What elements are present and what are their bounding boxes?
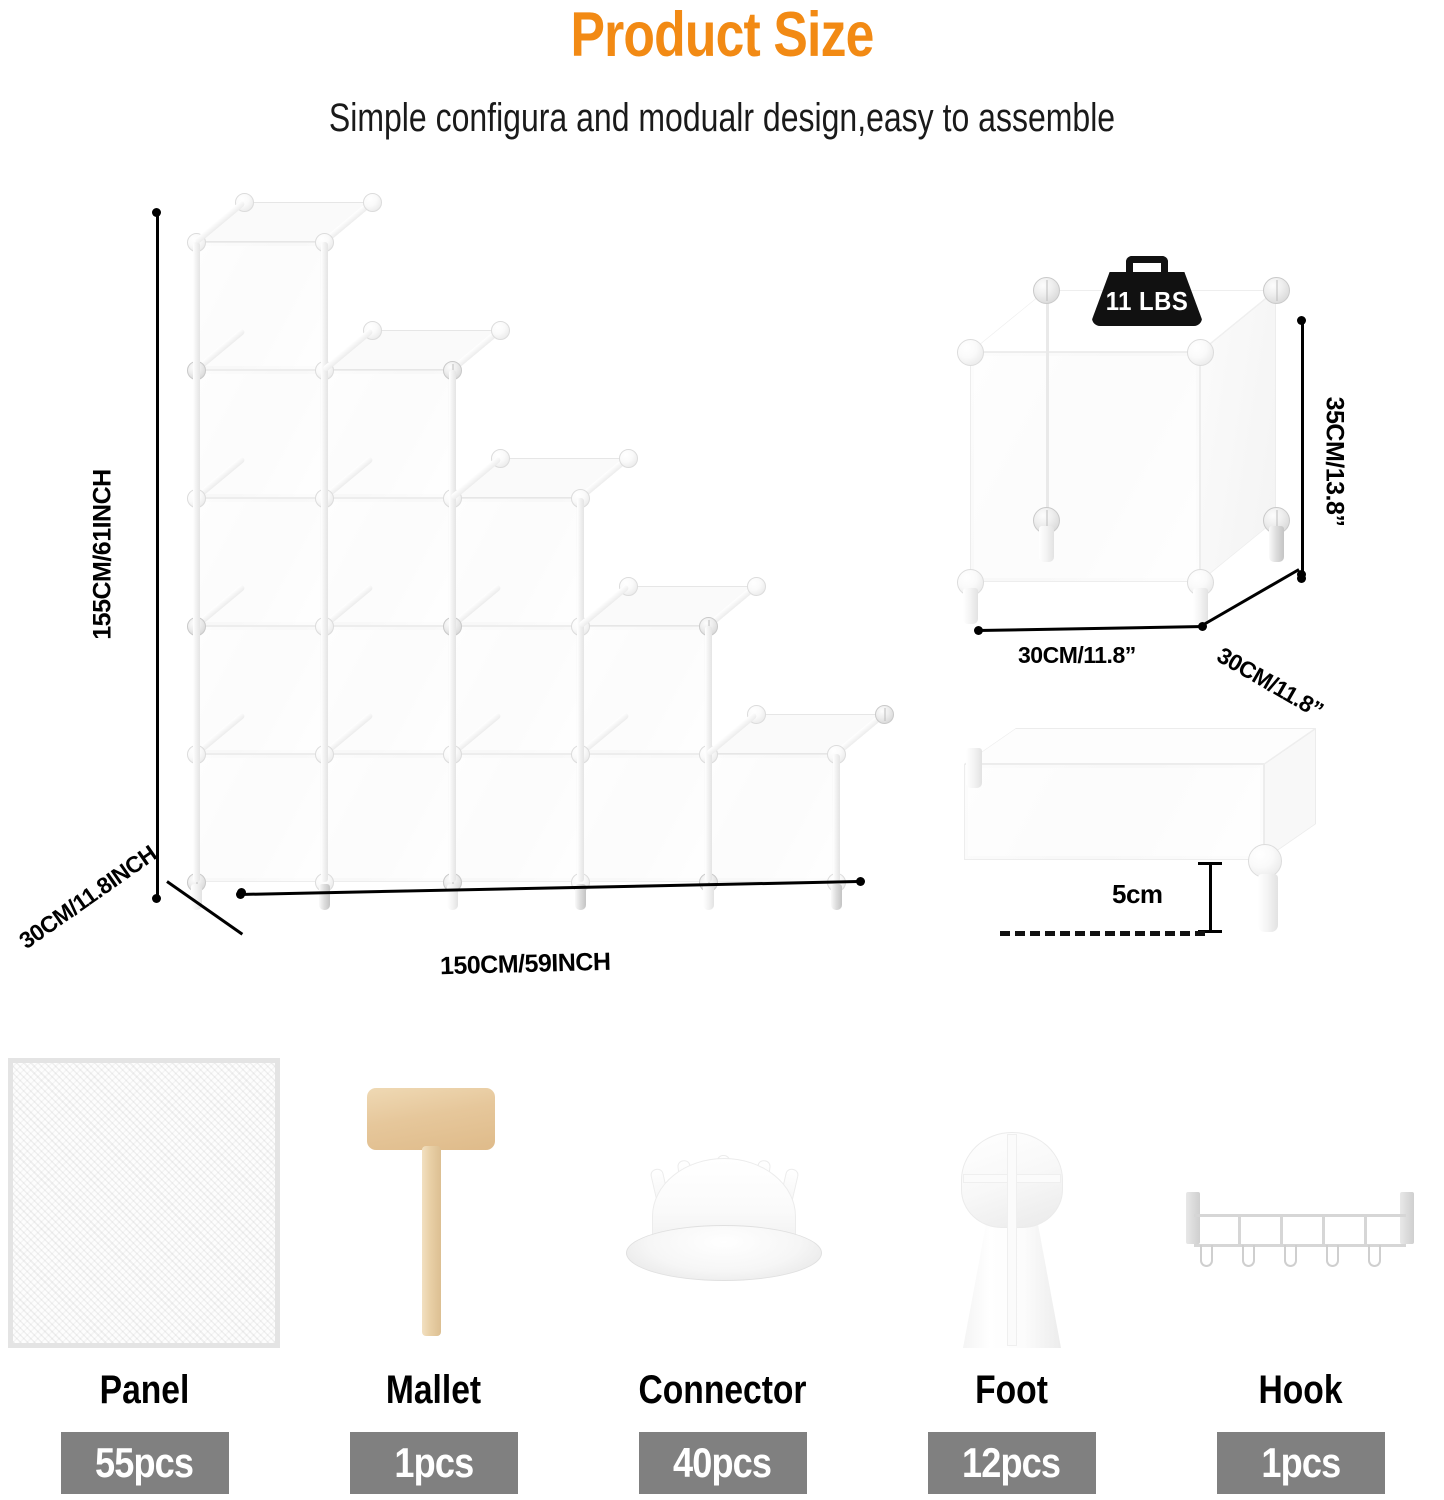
part-item-foot: Foot 12pcs xyxy=(867,1040,1156,1500)
cube-foot xyxy=(1258,874,1278,932)
cube-foot xyxy=(1193,588,1208,624)
part-qty-badge-hook: 1pcs xyxy=(1217,1432,1385,1494)
part-qty-connector: 40pcs xyxy=(673,1439,771,1487)
cube-cell xyxy=(196,754,324,882)
cube-front-face xyxy=(452,754,580,882)
cube-foot xyxy=(1039,526,1054,562)
foot-icon xyxy=(867,1040,1156,1365)
connector-knob xyxy=(1187,339,1214,366)
cube-depth-dimension-label: 30CM/11.8” xyxy=(1212,642,1327,724)
connector-knob xyxy=(875,705,894,724)
parts-list: Panel 55pcs Mallet 1pcs Connector 40pcs xyxy=(0,1040,1444,1500)
cube-foot xyxy=(831,884,842,910)
connector-knob xyxy=(491,321,510,340)
connector-icon xyxy=(578,1040,867,1365)
cube-foot xyxy=(1269,526,1284,562)
cube-width-dimension-label: 30CM/11.8” xyxy=(1018,642,1136,669)
detail-cube-inner-panel xyxy=(1046,302,1049,520)
part-qty-foot: 12pcs xyxy=(962,1439,1060,1487)
cube-post xyxy=(193,242,200,882)
cube-foot xyxy=(319,884,330,910)
part-qty-mallet: 1pcs xyxy=(394,1439,473,1487)
width-dimension-label: 150CM/59INCH xyxy=(440,948,611,981)
cube-cell xyxy=(452,754,580,882)
part-qty-badge-foot: 12pcs xyxy=(928,1432,1096,1494)
height-dimension-label: 155CM/61INCH xyxy=(89,425,118,685)
part-name-mallet: Mallet xyxy=(312,1368,555,1413)
connector-knob xyxy=(363,193,382,212)
single-cube-diagram xyxy=(960,290,1320,650)
connector-knob xyxy=(1263,277,1290,304)
part-qty-hook: 1pcs xyxy=(1261,1439,1340,1487)
part-name-panel: Panel xyxy=(23,1368,266,1413)
cube-foot xyxy=(966,748,982,788)
cube-cell xyxy=(324,754,452,882)
part-name-foot: Foot xyxy=(890,1368,1133,1413)
panel-detail-front-face xyxy=(964,764,1264,860)
foot-height-dimension-label: 5cm xyxy=(1112,879,1163,910)
cube-cell xyxy=(708,754,836,882)
weight-badge-label: 11 LBS xyxy=(1096,286,1197,317)
connector-knob xyxy=(957,339,984,366)
panel-icon xyxy=(0,1040,289,1365)
panel-detail-top-face xyxy=(964,728,1316,764)
cube-front-face xyxy=(324,754,452,882)
mallet-icon xyxy=(289,1040,578,1365)
weight-badge: 11 LBS xyxy=(1092,256,1202,326)
part-item-mallet: Mallet 1pcs xyxy=(289,1040,578,1500)
connector-knob xyxy=(1248,844,1282,878)
cube-post xyxy=(833,754,840,882)
cube-front-face xyxy=(580,754,708,882)
cube-foot xyxy=(963,588,978,624)
part-name-connector: Connector xyxy=(601,1368,844,1413)
cube-cell xyxy=(580,754,708,882)
part-qty-badge-mallet: 1pcs xyxy=(350,1432,518,1494)
connector-knob xyxy=(1033,277,1060,304)
ground-line xyxy=(1000,931,1205,936)
part-name-hook: Hook xyxy=(1179,1368,1422,1413)
part-item-panel: Panel 55pcs xyxy=(0,1040,289,1500)
part-qty-panel: 55pcs xyxy=(95,1439,193,1487)
connector-knob xyxy=(619,449,638,468)
part-qty-badge-panel: 55pcs xyxy=(61,1432,229,1494)
part-item-hook: Hook 1pcs xyxy=(1156,1040,1444,1500)
cube-height-dimension-label: 35CM/13.8” xyxy=(1320,362,1349,562)
part-item-connector: Connector 40pcs xyxy=(578,1040,867,1500)
cube-front-face xyxy=(708,754,836,882)
cube-foot xyxy=(703,884,714,910)
cube-post xyxy=(321,242,328,882)
cube-front-face xyxy=(196,754,324,882)
foot-height-diagram xyxy=(960,740,1320,950)
part-qty-badge-connector: 40pcs xyxy=(639,1432,807,1494)
cube-post xyxy=(449,370,456,882)
hook-icon xyxy=(1156,1040,1444,1365)
detail-cube-front-face xyxy=(970,352,1200,582)
cube-post xyxy=(577,498,584,882)
connector-knob xyxy=(747,577,766,596)
